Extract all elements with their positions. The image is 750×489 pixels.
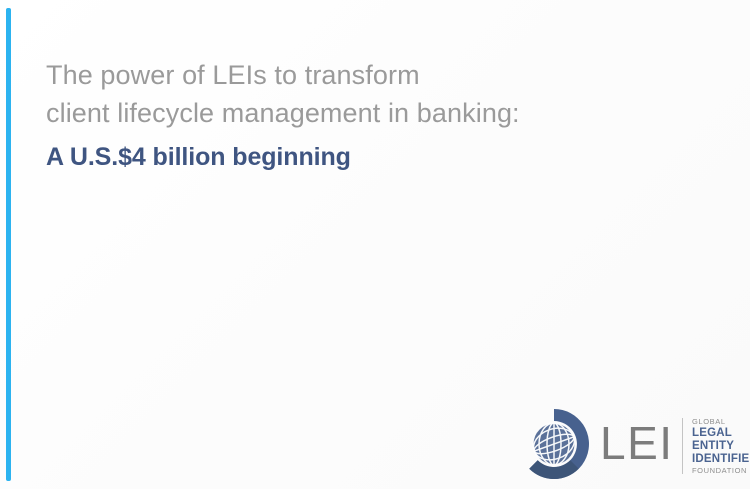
logo-tagline-foundation: FOUNDATION <box>692 466 750 476</box>
title-line-2: client lifecycle management in banking: <box>46 94 666 132</box>
gleif-logo: LEI GLOBAL LEGAL ENTITY IDENTIFIER FOUND… <box>516 406 748 482</box>
logo-tagline-legal: LEGAL <box>692 427 750 440</box>
title-line-1: The power of LEIs to transform <box>46 56 666 94</box>
logo-tagline-identifier: IDENTIFIER <box>692 453 750 466</box>
subtitle-line: A U.S.$4 billion beginning <box>46 138 666 176</box>
logo-tagline-entity: ENTITY <box>692 440 750 453</box>
logo-divider <box>682 418 683 474</box>
title-block: The power of LEIs to transform client li… <box>46 56 666 176</box>
presentation-slide: The power of LEIs to transform client li… <box>0 0 750 489</box>
left-accent-bar <box>6 8 11 481</box>
gleif-globe-icon <box>516 406 592 482</box>
logo-tagline: GLOBAL LEGAL ENTITY IDENTIFIER FOUNDATIO… <box>692 417 750 476</box>
logo-wordmark: LEI <box>600 417 674 469</box>
logo-tagline-global: GLOBAL <box>692 417 750 427</box>
